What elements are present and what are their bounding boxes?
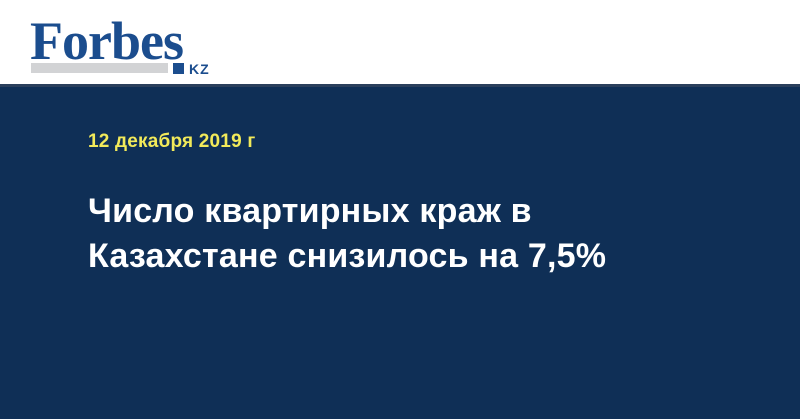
forbes-kz-logo[interactable]: Forbes KZ <box>30 14 250 76</box>
site-header: Forbes KZ <box>0 0 800 85</box>
article-hero-panel: 12 декабря 2019 г Число квартирных краж … <box>0 87 800 419</box>
logo-square-icon <box>173 63 184 74</box>
logo-kz-label: KZ <box>189 62 210 76</box>
logo-underline-bar <box>31 63 168 73</box>
article-date: 12 декабря 2019 г <box>88 131 728 153</box>
forbes-wordmark: Forbes <box>30 14 183 68</box>
article-content: 12 декабря 2019 г Число квартирных краж … <box>88 131 728 279</box>
article-card: Forbes KZ 12 декабря 2019 г Число кварти… <box>0 0 800 419</box>
article-headline: Число квартирных краж в Казахстане снизи… <box>88 189 688 279</box>
